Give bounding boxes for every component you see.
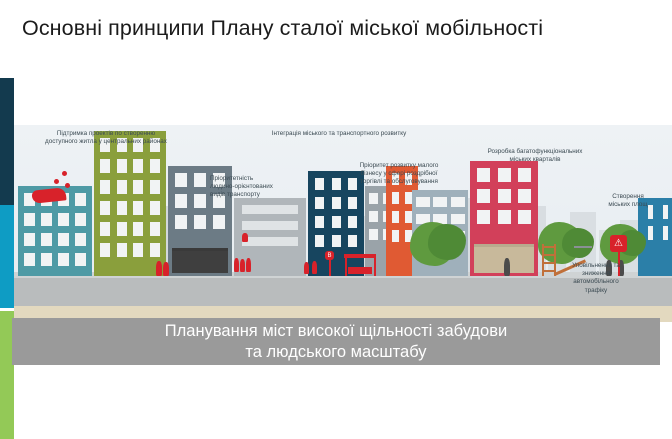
bus-stop-roof [344,254,376,258]
pedestrian-icon [156,261,162,276]
city-infographic: B ⚠ Підтримка проектів по створенню дост… [14,125,672,322]
cyclist-icon [242,233,248,242]
coin-icon [54,179,59,184]
tree-icon [562,228,594,258]
summary-banner: Планування міст високої щільності забудо… [12,318,660,365]
label-traffic-calming: Уповільнення та зниження автомобільного … [542,262,650,295]
pedestrian-icon [246,258,251,272]
label-city-squares: Створення міських площ [590,193,666,209]
coin-icon [65,183,70,188]
pedestrian-icon [312,261,317,274]
building-olive [94,131,166,276]
label-small-business: Пріоритет розвитку малого бізнесу у сфер… [330,162,468,187]
playground-rung [542,246,556,248]
bus-stop-sign-icon: B [325,251,334,260]
bus-stop-post [374,258,376,276]
bus-stop-bench [348,267,372,274]
pedestrian-icon [163,262,169,276]
coin-icon [62,171,67,176]
pedestrian-icon [240,259,245,272]
label-transport-integration: Інтеграція міського та транспортного роз… [246,130,432,138]
accent-bar-cyan [0,205,14,308]
tree-icon [428,224,466,260]
park-bench-icon [574,246,592,248]
shopfront [172,248,228,273]
slide-title-bar: Основні принципи Плану сталої міської мо… [0,0,672,56]
banner-line-2: та людського масштабу [245,342,426,363]
label-mixed-use-blocks: Розробка багатофункціональних міських кв… [460,148,610,164]
playground-rung [542,254,556,256]
accent-bar-navy [0,78,14,205]
presentation-slide: Основні принципи Плану сталої міської мо… [0,0,672,439]
pedestrian-icon [504,258,510,276]
pedestrian-icon [234,258,239,272]
page-title: Основні принципи Плану сталої міської мо… [22,16,543,41]
bus-stop-sign-pole [329,260,331,276]
pedestrian-crossing-sign-icon: ⚠ [610,235,627,252]
bus-stop-post [345,258,347,276]
label-human-oriented-transport: Пріоритетність людино-орієнтованих видів… [210,175,320,200]
label-affordable-housing: Підтримка проектів по створенню доступно… [18,130,194,146]
pedestrian-icon [304,262,309,274]
banner-line-1: Планування міст високої щільності забудо… [165,321,507,342]
